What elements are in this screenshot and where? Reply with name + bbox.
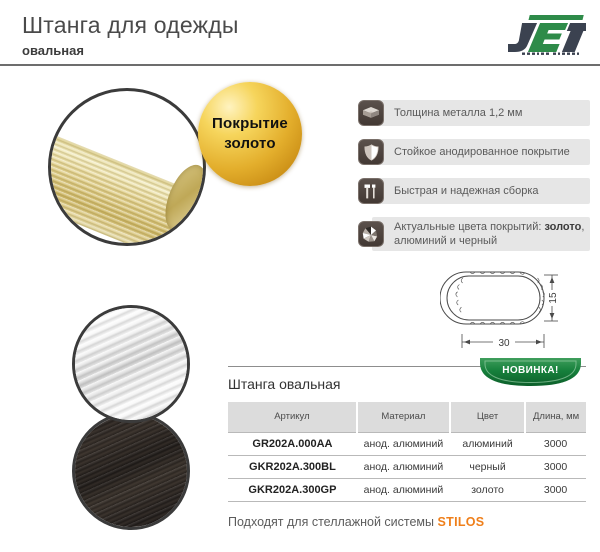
feature-item-thickness: Толщина металла 1,2 мм	[358, 100, 590, 126]
aluminium-bar-body	[72, 305, 190, 423]
page-header: Штанга для одежды овальная	[0, 0, 600, 66]
cell-material: анод. алюминий	[357, 432, 450, 455]
cell-color: черный	[450, 455, 525, 478]
metal-layers-icon	[358, 100, 384, 126]
cell-article: GKR202A.300GP	[228, 478, 357, 501]
product-datasheet-page: Штанга для одежды овальная	[0, 0, 600, 552]
gold-bar-photo	[48, 88, 206, 246]
feature-item-coating: Стойкое анодированное покрытие	[358, 139, 590, 165]
new-product-ribbon: НОВИНКА!	[478, 355, 583, 389]
oval-cross-section-drawing: 15 30	[440, 262, 590, 357]
cell-color: алюминий	[450, 432, 525, 455]
color-fan-icon	[358, 221, 384, 247]
cell-article: GR202A.000AA	[228, 432, 357, 455]
jet-logo-svg	[508, 14, 586, 56]
page-subtitle: овальная	[22, 43, 84, 58]
column-header-color: Цвет	[450, 402, 525, 432]
header-divider	[0, 64, 600, 66]
stilos-brand-label: STILOS	[438, 515, 485, 529]
jet-logo	[508, 14, 586, 56]
column-header-material: Материал	[357, 402, 450, 432]
feature-text-bold: золото	[544, 221, 581, 233]
gold-badge-line1: Покрытие	[212, 114, 288, 134]
feature-text: Быстрая и надежная сборка	[394, 178, 586, 204]
cell-length: 3000	[525, 432, 586, 455]
table-row: GR202A.000AA анод. алюминий алюминий 300…	[228, 432, 586, 455]
drawing-height-label: 15	[548, 292, 559, 304]
shield-icon	[358, 139, 384, 165]
cell-length: 3000	[525, 455, 586, 478]
feature-text-before: Актуальные цвета покрытий:	[394, 221, 544, 233]
gold-coating-badge: Покрытие золото	[198, 82, 302, 186]
ribbon-label: НОВИНКА!	[486, 362, 575, 379]
drawing-width-label: 30	[498, 338, 510, 349]
compatibility-note: Подходят для стеллажной системы STILOS	[228, 515, 586, 529]
feature-list: Толщина металла 1,2 мм Стойкое анодирова…	[358, 100, 590, 264]
product-table-block: Штанга овальная Артикул Материал Цвет Дл…	[228, 366, 586, 529]
aluminium-bar-photo	[72, 305, 190, 423]
table-row: GKR202A.300BL анод. алюминий черный 3000	[228, 455, 586, 478]
feature-text: Стойкое анодированное покрытие	[394, 139, 586, 165]
cell-article: GKR202A.300BL	[228, 455, 357, 478]
table-header-row: Артикул Материал Цвет Длина, мм	[228, 402, 586, 432]
column-header-length: Длина, мм	[525, 402, 586, 432]
cell-material: анод. алюминий	[357, 478, 450, 501]
cell-color: золото	[450, 478, 525, 501]
black-bar-photo	[72, 412, 190, 530]
black-bar-body	[72, 412, 190, 530]
tools-icon	[358, 178, 384, 204]
compatibility-note-text: Подходят для стеллажной системы	[228, 515, 438, 529]
feature-text: Толщина металла 1,2 мм	[394, 100, 586, 126]
table-row: GKR202A.300GP анод. алюминий золото 3000	[228, 478, 586, 501]
gold-badge-line2: золото	[224, 134, 276, 154]
feature-item-assembly: Быстрая и надежная сборка	[358, 178, 590, 204]
cell-length: 3000	[525, 478, 586, 501]
feature-item-colors: Актуальные цвета покрытий: золото, алюми…	[358, 217, 590, 251]
product-table: Артикул Материал Цвет Длина, мм GR202A.0…	[228, 402, 586, 502]
column-header-article: Артикул	[228, 402, 357, 432]
page-title: Штанга для одежды	[22, 12, 239, 39]
feature-text: Актуальные цвета покрытий: золото, алюми…	[394, 217, 586, 251]
cell-material: анод. алюминий	[357, 455, 450, 478]
